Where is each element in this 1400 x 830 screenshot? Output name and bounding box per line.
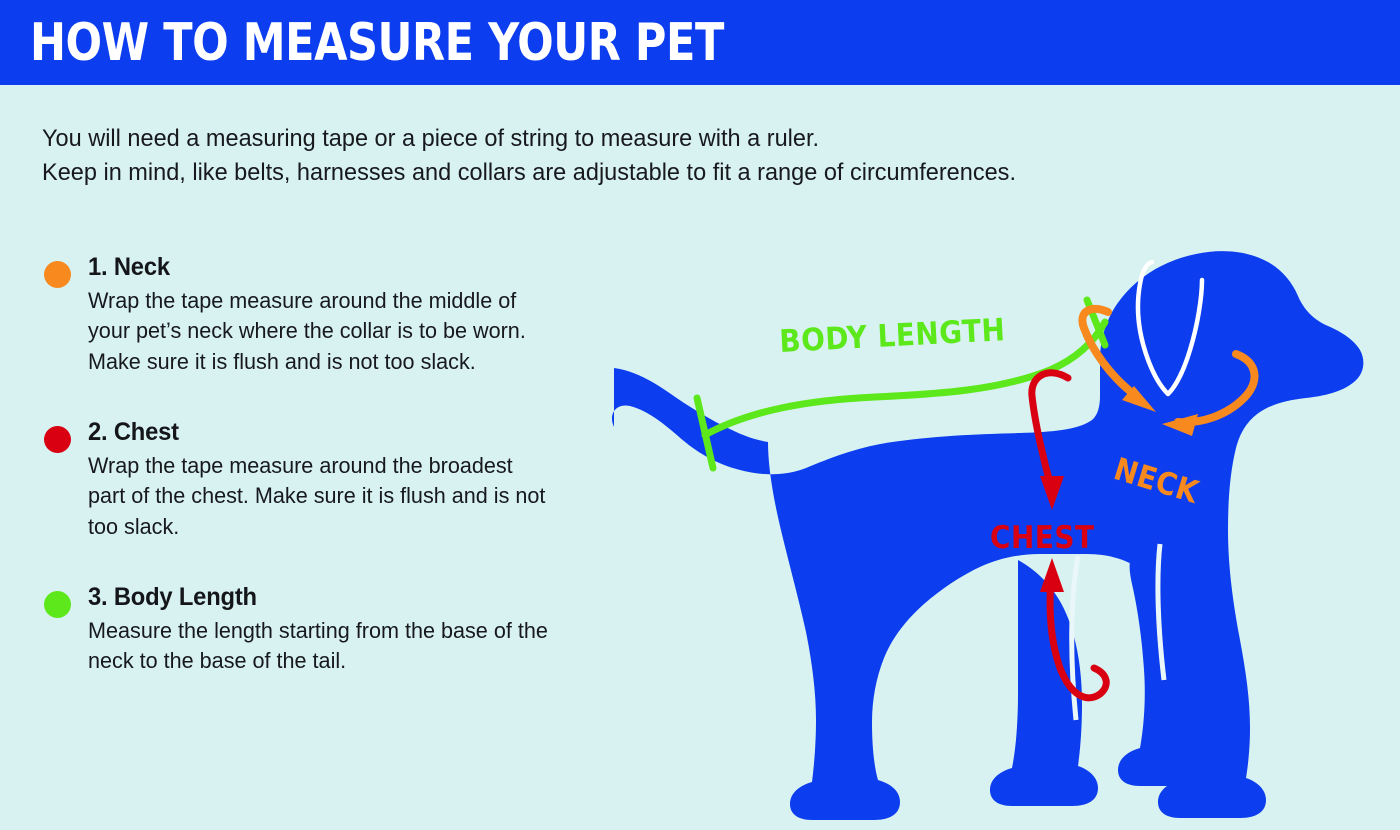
intro-line-1: You will need a measuring tape or a piec…	[42, 122, 1232, 156]
step-body-chest: Wrap the tape measure around the broades…	[88, 451, 640, 543]
step-body-body-length: Measure the length starting from the bas…	[88, 616, 640, 677]
bullet-neck-icon	[44, 261, 71, 288]
bullet-chest-icon	[44, 426, 71, 453]
step-body-line: neck to the base of the tail.	[88, 646, 618, 677]
measurement-steps-list: 1. Neck Wrap the tape measure around the…	[40, 252, 640, 677]
intro-paragraph: You will need a measuring tape or a piec…	[42, 122, 1282, 190]
list-item: 1. Neck Wrap the tape measure around the…	[40, 252, 640, 377]
list-item: 2. Chest Wrap the tape measure around th…	[40, 417, 640, 542]
chest-arrowhead-up	[1040, 558, 1064, 592]
step-body-line: your pet’s neck where the collar is to b…	[88, 316, 618, 347]
step-body-line: part of the chest. Make sure it is flush…	[88, 481, 618, 512]
step-title-neck: 1. Neck	[88, 252, 612, 283]
label-body-length: BODY LENGTH	[779, 312, 1007, 360]
step-body-line: Wrap the tape measure around the middle …	[88, 286, 618, 317]
label-chest: CHEST	[990, 520, 1094, 556]
step-body-line: Measure the length starting from the bas…	[88, 616, 618, 647]
list-item: 3. Body Length Measure the length starti…	[40, 582, 640, 677]
bullet-body-length-icon	[44, 591, 71, 618]
step-body-line: Wrap the tape measure around the broades…	[88, 451, 618, 482]
step-title-chest: 2. Chest	[88, 417, 612, 448]
header-bar: HOW TO MEASURE YOUR PET	[0, 0, 1400, 85]
intro-line-2: Keep in mind, like belts, harnesses and …	[42, 156, 1232, 190]
step-body-line: Make sure it is flush and is not too sla…	[88, 347, 618, 378]
step-title-body-length: 3. Body Length	[88, 582, 612, 613]
step-body-line: too slack.	[88, 512, 618, 543]
page-title: HOW TO MEASURE YOUR PET	[30, 17, 724, 69]
dog-measurement-diagram: BODY LENGTH NECK CHEST	[600, 200, 1400, 830]
step-body-neck: Wrap the tape measure around the middle …	[88, 286, 640, 378]
